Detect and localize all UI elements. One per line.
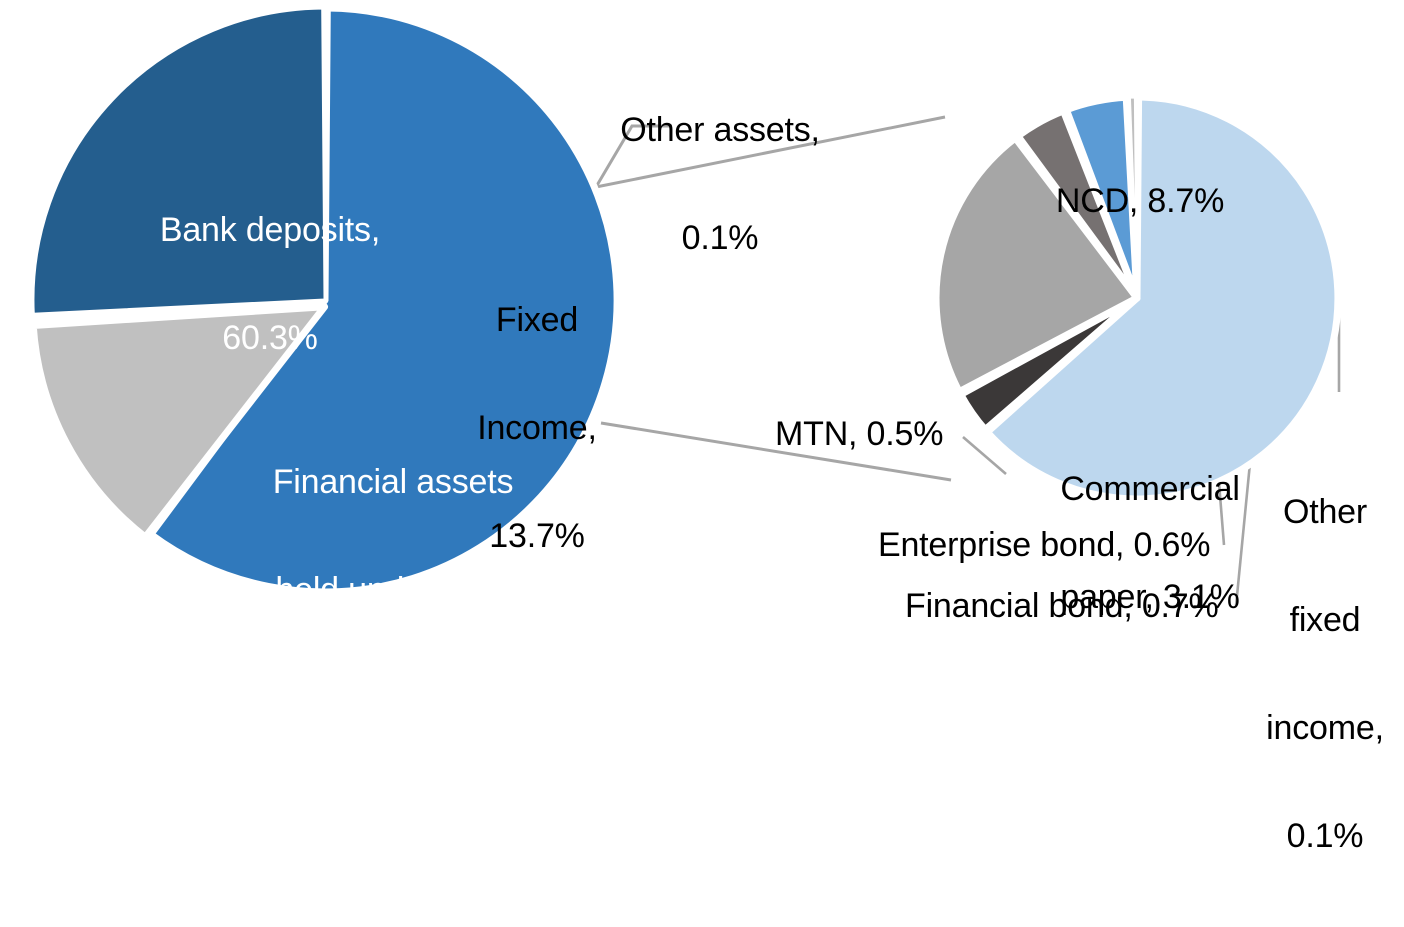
label-repo-line4: 25.9% [248,788,538,824]
label-other-assets: Other assets, 0.1% [580,40,860,328]
label-bank-deposits: Bank deposits, 60.3% [120,140,420,428]
label-repo-line1: Financial assets [248,464,538,500]
label-financial-bond: Financial bond, 0.7% [905,588,1245,624]
label-repo-line3: agreements, [248,680,538,716]
label-ncd: NCD, 8.7% [1005,183,1275,219]
label-other-assets-line2: 0.1% [580,220,860,256]
label-enterprise-bond: Enterprise bond, 0.6% [878,527,1228,563]
label-commercial-paper-line1: Commercial [1030,471,1270,507]
label-other-fixed-line3: income, [1250,710,1400,746]
label-fixed-income-line1: Fixed [452,302,622,338]
label-repo-line2: held under repo [248,572,538,608]
label-repo-agreements: Financial assets held under repo agreeme… [248,392,538,896]
label-other-fixed-line2: fixed [1250,602,1400,638]
label-other-fixed-income: Other fixed income, 0.1% [1250,422,1400,926]
pie-of-pie-chart: Bank deposits, 60.3% Other assets, 0.1% … [0,0,1404,644]
label-other-fixed-line4: 0.1% [1250,818,1400,854]
label-other-fixed-line1: Other [1250,494,1400,530]
label-bank-deposits-line2: 60.3% [120,320,420,356]
label-bank-deposits-line1: Bank deposits, [120,212,420,248]
label-other-assets-line1: Other assets, [580,112,860,148]
label-mtn: MTN, 0.5% [775,416,995,452]
